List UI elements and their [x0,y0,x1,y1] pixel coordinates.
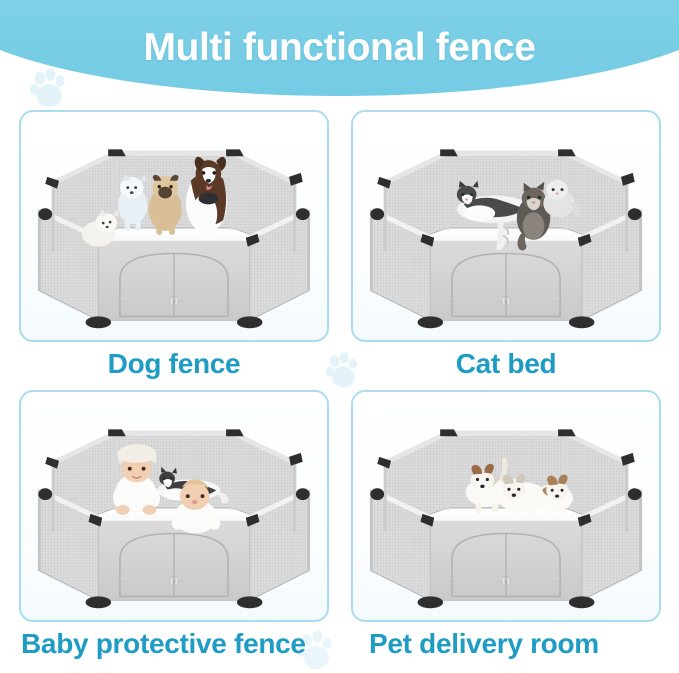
product-card-dog-fence[interactable] [19,110,329,342]
card-label-pet-delivery: Pet delivery room [369,625,679,663]
card-label-baby-fence: Baby protective fence [19,625,351,663]
product-card-pet-delivery[interactable] [351,390,661,622]
playpen-illustration-babies [21,392,327,620]
playpen-illustration-dogs [21,112,327,340]
product-card-baby-fence[interactable] [19,390,329,622]
page-title: Multi functional fence [0,0,679,96]
playpen-illustration-puppies [353,392,659,620]
card-label-dog-fence: Dog fence [19,345,329,383]
card-label-cat-bed: Cat bed [351,345,661,383]
playpen-illustration-cats [353,112,659,340]
product-card-cat-bed[interactable] [351,110,661,342]
